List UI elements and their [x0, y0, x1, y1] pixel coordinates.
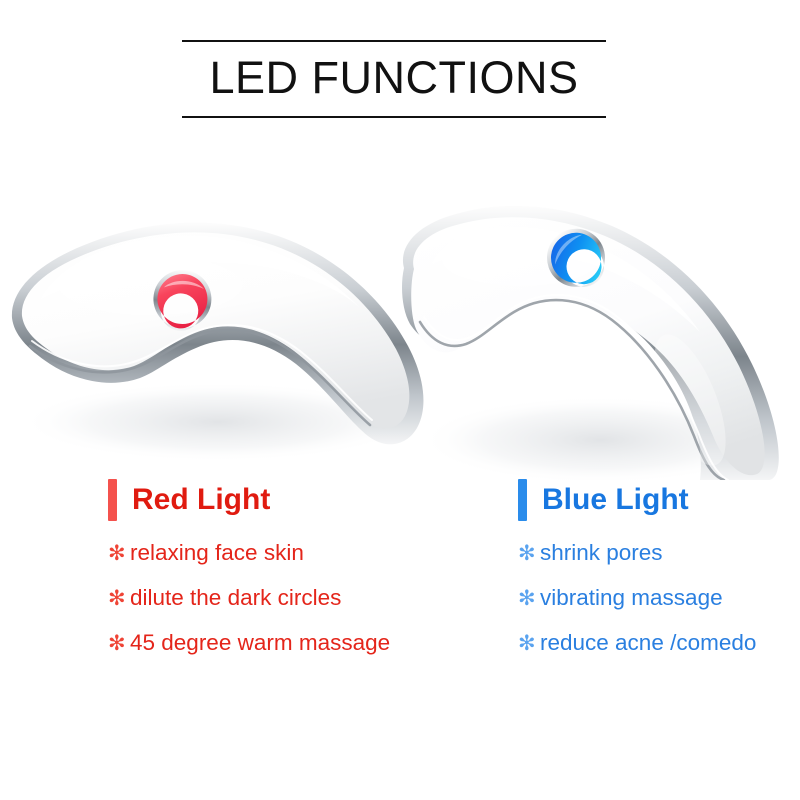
asterisk-icon: ✻ [518, 588, 540, 609]
list-item: ✻ 45 degree warm massage [108, 630, 488, 675]
asterisk-icon: ✻ [108, 588, 130, 609]
list-item: ✻ reduce acne /comedo [518, 630, 798, 675]
red-light-title: Red Light [132, 478, 270, 522]
title-rule-top [182, 40, 606, 42]
red-accent-bar [108, 479, 117, 521]
list-item-label: 45 degree warm massage [130, 630, 390, 656]
blue-light-heading: Blue Light [518, 478, 798, 524]
list-item-label: vibrating massage [540, 585, 723, 611]
title-rule-bottom [182, 116, 606, 118]
asterisk-icon: ✻ [108, 543, 130, 564]
list-item-label: relaxing face skin [130, 540, 304, 566]
blue-light-title: Blue Light [542, 478, 689, 522]
red-light-feature-column: Red Light ✻ relaxing face skin ✻ dilute … [108, 478, 488, 675]
list-item-label: shrink pores [540, 540, 663, 566]
page-title: LED FUNCTIONS [182, 46, 606, 110]
blue-light-benefit-list: ✻ shrink pores ✻ vibrating massage ✻ red… [518, 540, 798, 675]
blue-accent-bar [518, 479, 527, 521]
asterisk-icon: ✻ [518, 543, 540, 564]
device-gallery [0, 150, 800, 480]
asterisk-icon: ✻ [518, 633, 540, 654]
title-block: LED FUNCTIONS [182, 38, 606, 120]
list-item-label: reduce acne /comedo [540, 630, 756, 656]
list-item: ✻ vibrating massage [518, 585, 798, 630]
red-light-benefit-list: ✻ relaxing face skin ✻ dilute the dark c… [108, 540, 488, 675]
asterisk-icon: ✻ [108, 633, 130, 654]
red-light-heading: Red Light [108, 478, 488, 524]
list-item: ✻ dilute the dark circles [108, 585, 488, 630]
blue-light-feature-column: Blue Light ✻ shrink pores ✻ vibrating ma… [518, 478, 798, 675]
list-item-label: dilute the dark circles [130, 585, 341, 611]
list-item: ✻ relaxing face skin [108, 540, 488, 585]
list-item: ✻ shrink pores [518, 540, 798, 585]
